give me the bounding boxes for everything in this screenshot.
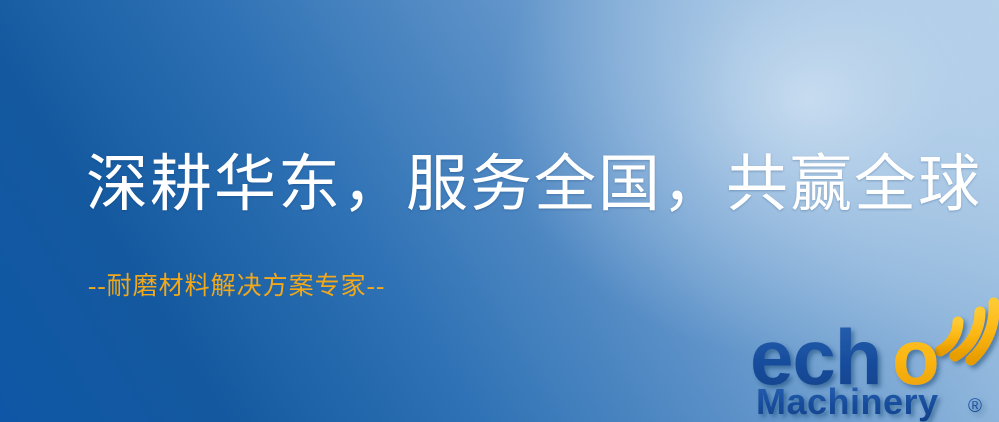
banner-headline: 深耕华东，服务全国，共赢全球 xyxy=(86,152,982,219)
echo-machinery-logo[interactable]: ech o Machinery ® xyxy=(742,288,999,422)
logo-tagline: Machinery xyxy=(756,381,939,422)
logo-trademark-symbol: ® xyxy=(968,396,982,417)
echo-logo: ech o Machinery ® xyxy=(742,288,999,422)
echo-signal-arcs-icon xyxy=(940,303,994,360)
banner-subheadline: --耐磨材料解决方案专家-- xyxy=(88,266,385,302)
hero-banner: 深耕华东，服务全国，共赢全球 --耐磨材料解决方案专家-- xyxy=(0,0,999,422)
